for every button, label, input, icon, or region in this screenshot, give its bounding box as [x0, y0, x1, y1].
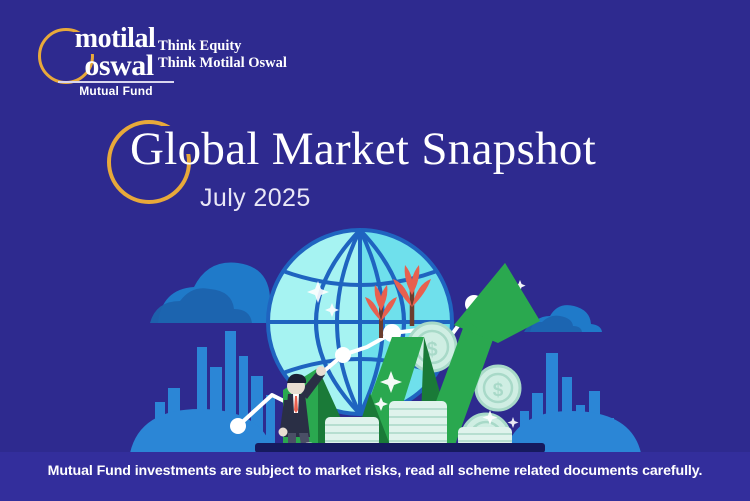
page-title: Global Market Snapshot: [130, 126, 596, 173]
market-growth-illustration: $ $ $: [0, 225, 750, 453]
trend-node: [335, 347, 351, 363]
global-market-snapshot-poster: motilal oswal Mutual Fund Think Equity T…: [0, 0, 750, 501]
page-subtitle: July 2025: [200, 184, 311, 213]
coin-stack-mid: [325, 417, 379, 447]
tagline-line-1: Think Equity: [158, 38, 287, 55]
illustration-svg: $ $ $: [0, 225, 750, 453]
brand-divider: [58, 81, 174, 83]
brand-tagline: Think Equity Think Motilal Oswal: [158, 38, 287, 72]
person-hand: [279, 428, 288, 437]
coin-disc: $: [476, 366, 520, 410]
coin-dollar-glyph: $: [493, 380, 504, 401]
disclaimer-text: Mutual Fund investments are subject to m…: [0, 463, 750, 479]
tagline-line-2: Think Motilal Oswal: [158, 55, 287, 72]
brand-fund-type: Mutual Fund: [58, 84, 174, 98]
trend-node: [230, 418, 246, 434]
person-hand: [316, 366, 326, 376]
coin-stack-tall: [389, 401, 447, 447]
